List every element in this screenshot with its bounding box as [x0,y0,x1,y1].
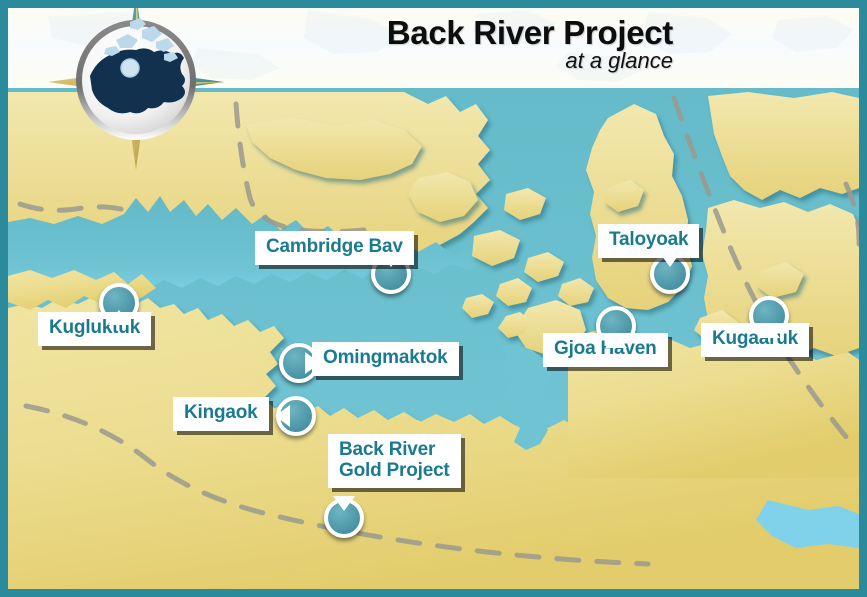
page-title: Back River Project [387,16,673,49]
place-label-kingaok[interactable]: Kingaok [173,397,269,431]
callout-pointer-kugluktuk [108,310,130,325]
place-label-taloyoak[interactable]: Taloyoak [598,224,699,258]
place-label-omingmaktok[interactable]: Omingmaktok [312,342,459,376]
project-location-dot [121,59,139,77]
callout-pointer-back-river-gold-project [333,496,355,511]
canada-inset-map-compass-icon [46,0,226,172]
callout-pointer-cambridge-bay [380,252,402,267]
callout-pointer-omingmaktok [305,352,320,374]
page-subtitle: at a glance [387,50,673,72]
place-label-back-river-gold-project[interactable]: Back River Gold Project [328,434,461,488]
place-label-kugluktuk[interactable]: Kugluktuk [38,312,151,346]
title-block: Back River Project at a glance [387,16,673,72]
place-label-kugaaruk[interactable]: Kugaaruk [701,323,809,357]
map-infographic: Back River Project at a glance [0,0,867,597]
callout-pointer-kingaok [275,405,290,427]
callout-pointer-gjoa-haven [605,333,627,348]
callout-pointer-taloyoak [659,252,681,267]
callout-pointer-kugaaruk [758,323,780,338]
